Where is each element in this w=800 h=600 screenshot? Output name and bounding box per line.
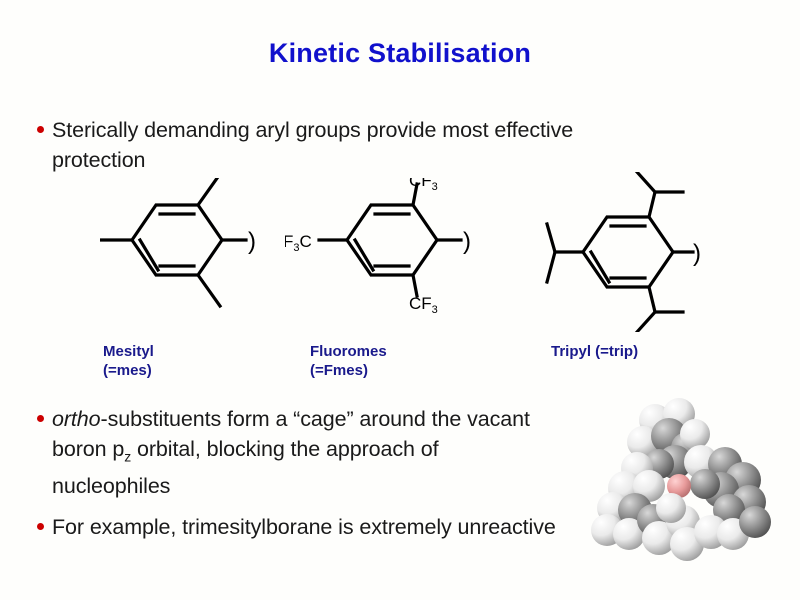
- mesityl-svg: ): [100, 178, 260, 323]
- bullet-dot-icon: [37, 415, 44, 422]
- f3c-label-left: F3C: [285, 232, 312, 254]
- structure-caption-mesityl: Mesityl (=mes): [103, 342, 154, 380]
- fluoromes-svg: CF3 CF3 F3C ): [285, 178, 485, 323]
- bullet-item-2: ortho-substituents form a “cage” around …: [37, 404, 557, 501]
- tripyl-svg: ): [525, 172, 705, 332]
- structure-mesityl: ): [100, 178, 260, 328]
- cf3-label-bottom: CF3: [409, 294, 438, 316]
- molecule-svg: [583, 398, 788, 583]
- page-title: Kinetic Stabilisation: [0, 38, 800, 69]
- attachment-marker: ): [248, 228, 256, 255]
- attachment-marker: ): [693, 240, 701, 267]
- ortho-italic: ortho: [52, 407, 101, 431]
- bullet-item-1: Sterically demanding aryl groups provide…: [37, 115, 637, 175]
- bullet-text-1: Sterically demanding aryl groups provide…: [52, 115, 637, 175]
- bullet-text-2: ortho-substituents form a “cage” around …: [52, 404, 557, 501]
- structure-tripyl: ): [525, 172, 705, 337]
- cf3-label-top: CF3: [409, 178, 438, 193]
- bullet-text-3: For example, trimesitylborane is extreme…: [52, 512, 556, 542]
- structure-fluoromes: CF3 CF3 F3C ): [285, 178, 485, 328]
- trimesitylborane-model: [583, 398, 788, 583]
- structure-caption-tripyl: Tripyl (=trip): [551, 342, 638, 361]
- attachment-marker: ): [463, 228, 471, 255]
- bullet-dot-icon: [37, 126, 44, 133]
- bullet-item-3: For example, trimesitylborane is extreme…: [37, 512, 577, 542]
- structure-caption-fluoromes: Fluoromes (=Fmes): [310, 342, 387, 380]
- bullet-dot-icon: [37, 523, 44, 530]
